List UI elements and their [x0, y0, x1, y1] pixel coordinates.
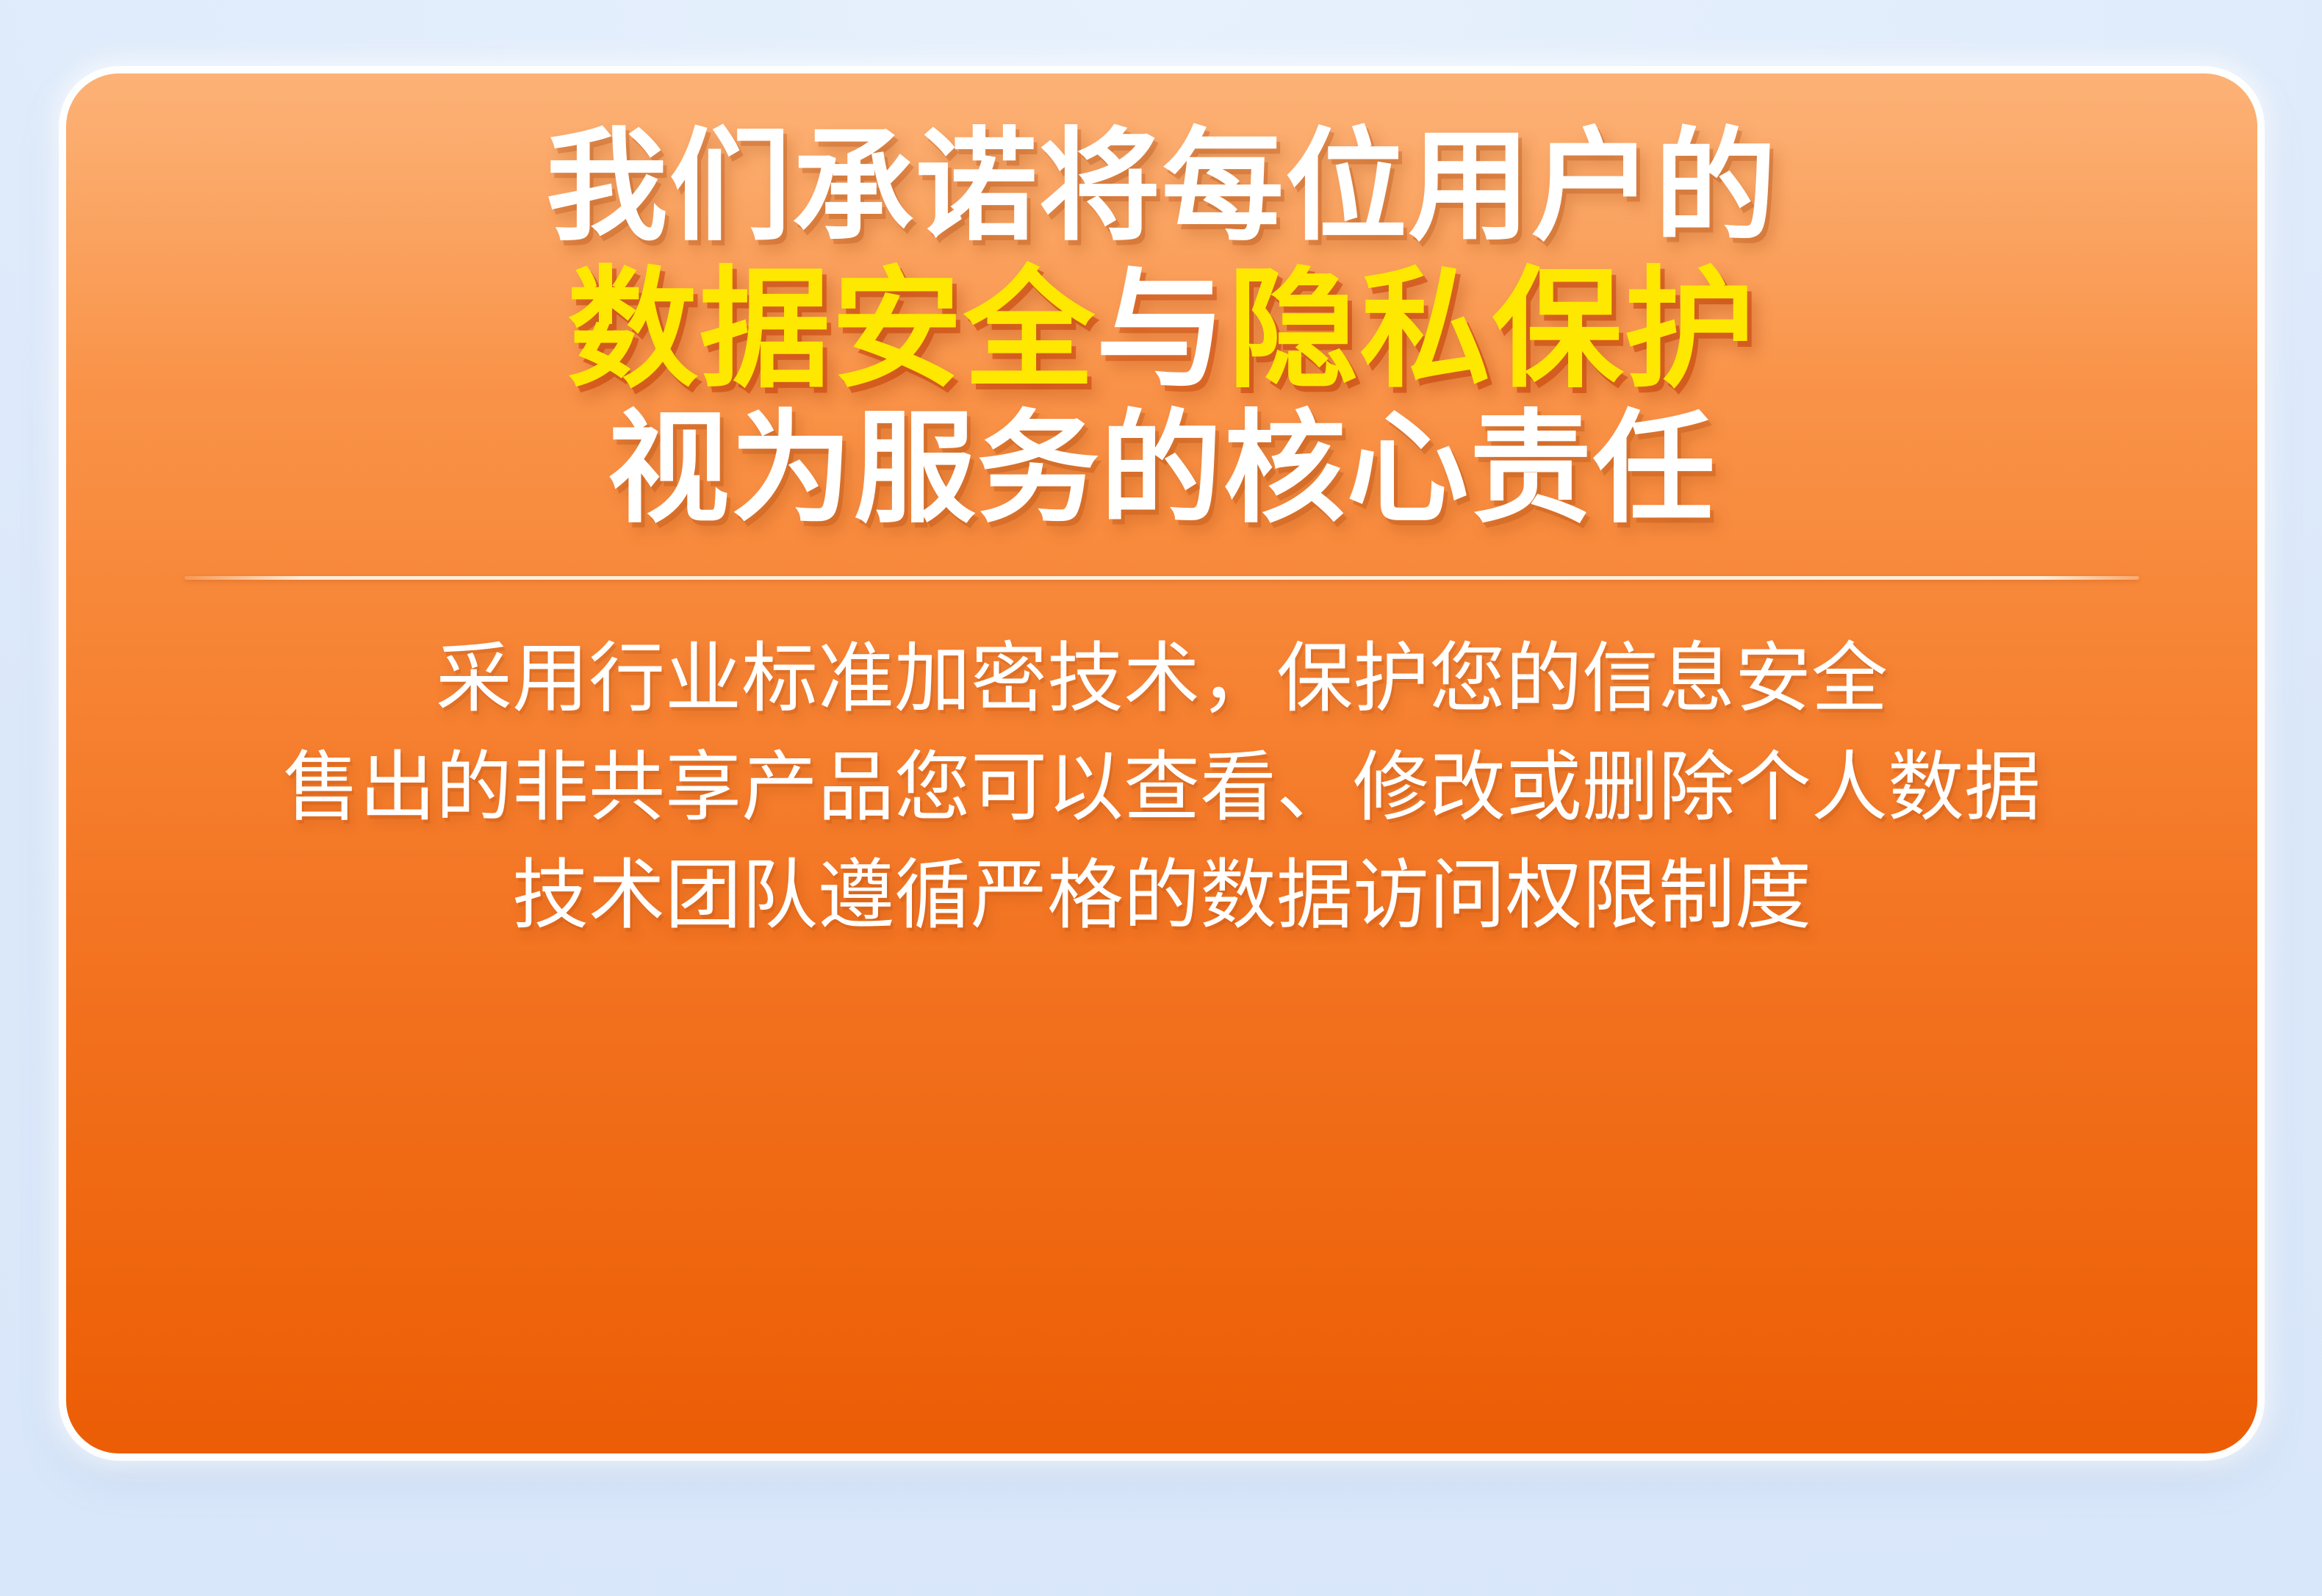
headline-line-3: 视为服务的核心责任 — [66, 395, 2257, 531]
body-line-data-rights: 售出的非共享产品您可以查看、修改或删除个人数据 — [66, 734, 2257, 843]
privacy-promise-card: 我们承诺将每位用户的 数据安全与隐私保护 视为服务的核心责任 采用行业标准加密技… — [66, 73, 2257, 1453]
body-line-access-control: 技术团队遵循严格的数据访问权限制度 — [66, 842, 2257, 951]
headline-line-1: 我们承诺将每位用户的 — [66, 107, 2257, 248]
headline-highlight-data-security: 数据安全 — [567, 256, 1096, 403]
headline-conjunction: 与 — [1096, 256, 1228, 403]
headline-block: 我们承诺将每位用户的 数据安全与隐私保护 视为服务的核心责任 — [66, 107, 2257, 531]
body-line-encryption: 采用行业标准加密技术，保护您的信息安全 — [66, 625, 2257, 734]
body-block: 采用行业标准加密技术，保护您的信息安全 售出的非共享产品您可以查看、修改或删除个… — [66, 625, 2257, 951]
page-root: 我们承诺将每位用户的 数据安全与隐私保护 视为服务的核心责任 采用行业标准加密技… — [0, 0, 2322, 1596]
headline-line-2: 数据安全与隐私保护 — [66, 248, 2257, 395]
section-divider — [184, 576, 2139, 580]
headline-highlight-privacy-protection: 隐私保护 — [1228, 256, 1756, 403]
